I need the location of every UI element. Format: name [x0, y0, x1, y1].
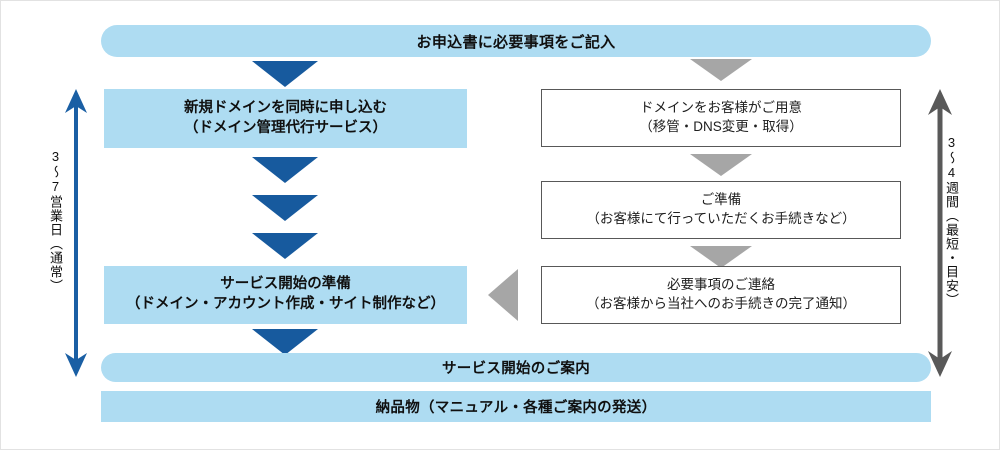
- flow-diagram-canvas: お申込書に必要事項をご記入 新規ドメインを同時に申し込む （ドメイン管理代行サー…: [0, 0, 1000, 450]
- footer-bar-service-start-guide: サービス開始のご案内: [101, 353, 931, 382]
- down-arrow-icon-left-2: [252, 157, 318, 183]
- down-arrow-icon-left-4: [252, 233, 318, 259]
- left-box-new-domain-line1: 新規ドメインを同時に申し込む: [184, 99, 387, 119]
- left-box-new-domain: 新規ドメインを同時に申し込む （ドメイン管理代行サービス）: [104, 89, 467, 148]
- right-box-domain-prepared-by-customer: ドメインをお客様がご用意 （移管・DNS変更・取得）: [541, 89, 901, 147]
- top-bar-label: お申込書に必要事項をご記入: [417, 31, 616, 52]
- right-box-preparation: ご準備 （お客様にて行っていただくお手続きなど）: [541, 181, 901, 239]
- left-box-service-preparation: サービス開始の準備 （ドメイン・アカウント作成・サイト制作など）: [104, 266, 467, 324]
- left-box-new-domain-line2: （ドメイン管理代行サービス）: [184, 119, 387, 139]
- left-box-service-preparation-line1: サービス開始の準備: [220, 275, 351, 295]
- footer-bar-2-label: 納品物（マニュアル・各種ご案内の発送）: [376, 396, 657, 417]
- right-box-3-line1: 必要事項のご連絡: [667, 276, 775, 295]
- right-box-3-line2: （お客様から当社へのお手続きの完了通知）: [586, 295, 856, 314]
- right-box-2-line2: （お客様にて行っていただくお手続きなど）: [586, 210, 855, 229]
- right-box-2-line1: ご準備: [701, 191, 742, 210]
- footer-bar-deliverables: 納品物（マニュアル・各種ご案内の発送）: [101, 391, 931, 422]
- duration-label-right: 3〜4週間（最短・目安）: [945, 135, 958, 307]
- double-headed-vertical-arrow-icon-left: [63, 89, 89, 377]
- duration-label-left: 3〜7営業日（通常）: [49, 149, 62, 293]
- down-arrow-icon-right-1: [690, 59, 752, 81]
- footer-bar-1-label: サービス開始のご案内: [442, 357, 590, 378]
- down-arrow-icon-right-2: [690, 154, 752, 176]
- right-box-required-info-contact: 必要事項のご連絡 （お客様から当社へのお手続きの完了通知）: [541, 266, 901, 324]
- down-arrow-icon-left-1: [252, 61, 318, 87]
- left-box-service-preparation-line2: （ドメイン・アカウント作成・サイト制作など）: [126, 295, 445, 315]
- down-arrow-icon-left-3: [252, 195, 318, 221]
- right-box-1-line2: （移管・DNS変更・取得）: [639, 118, 803, 137]
- right-box-1-line1: ドメインをお客様がご用意: [640, 99, 802, 118]
- top-bar-application-form: お申込書に必要事項をご記入: [101, 25, 931, 57]
- down-arrow-icon-left-5: [252, 329, 318, 355]
- left-arrow-icon-merge: [488, 269, 518, 321]
- down-arrow-icon-right-3: [690, 246, 752, 268]
